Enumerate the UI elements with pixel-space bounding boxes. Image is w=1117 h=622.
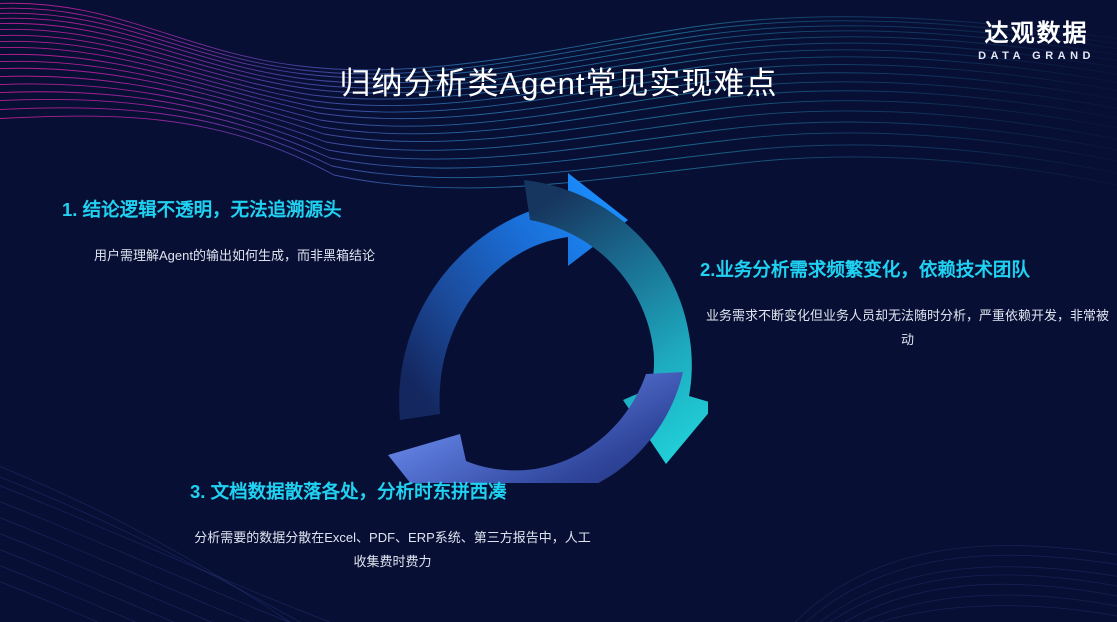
cycle-diagram [378, 158, 708, 483]
point-2-heading: 2.业务分析需求频繁变化，依赖技术团队 [700, 258, 1115, 282]
point-2: 2.业务分析需求频繁变化，依赖技术团队 业务需求不断变化但业务人员却无法随时分析… [700, 258, 1115, 352]
logo-name-cn: 达观数据 [978, 22, 1095, 46]
point-3-body: 分析需要的数据分散在Excel、PDF、ERP系统、第三方报告中，人工收集费时费… [190, 526, 595, 574]
point-1-heading: 1. 结论逻辑不透明，无法追溯源头 [62, 198, 407, 222]
brand-logo: 达观数据 DATA GRAND [978, 22, 1095, 62]
point-3-heading: 3. 文档数据散落各处，分析时东拼西凑 [190, 480, 595, 504]
point-1-body: 用户需理解Agent的输出如何生成，而非黑箱结论 [62, 244, 407, 268]
point-1: 1. 结论逻辑不透明，无法追溯源头 用户需理解Agent的输出如何生成，而非黑箱… [62, 198, 407, 268]
page-title: 归纳分析类Agent常见实现难点 [0, 58, 1117, 103]
point-3: 3. 文档数据散落各处，分析时东拼西凑 分析需要的数据分散在Excel、PDF、… [190, 480, 595, 574]
cycle-arrow-right [524, 180, 708, 464]
logo-name-en: DATA GRAND [978, 51, 1095, 62]
slide-root: 归纳分析类Agent常见实现难点 达观数据 DATA GRAND [0, 0, 1117, 622]
point-2-body: 业务需求不断变化但业务人员却无法随时分析，严重依赖开发，非常被动 [700, 304, 1115, 352]
